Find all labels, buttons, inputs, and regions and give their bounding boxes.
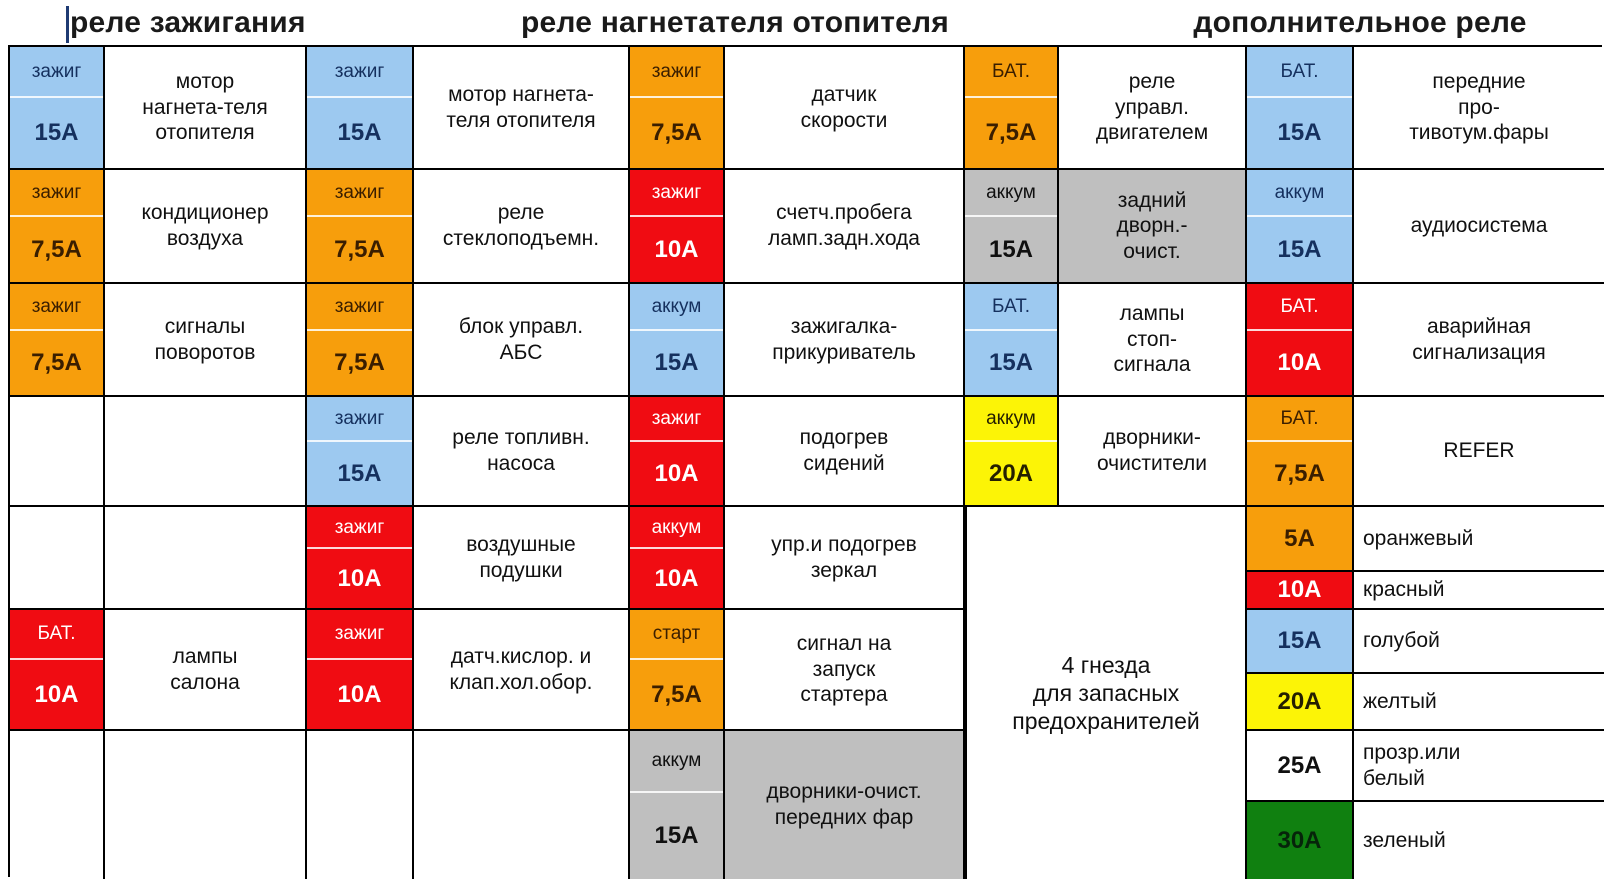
fuse-description-cell: заднийдворн.-очист. (1059, 170, 1247, 284)
fuse-cell[interactable]: зажиг10A (307, 507, 414, 610)
fuse-cell[interactable] (307, 731, 414, 879)
fuse-amp-label: 15A (630, 331, 723, 395)
fuse-cell[interactable]: зажиг10A (630, 170, 725, 284)
fuse-cell[interactable] (10, 507, 105, 610)
fuse-description-cell: релеуправл.двигателем (1059, 47, 1247, 170)
fuse-description-line: сигнализация (1412, 340, 1546, 366)
fuse-description-cell: моторнагнета-теляотопителя (105, 47, 307, 170)
fuse-grid: зажиг15Aмоторнагнета-теляотопителязажиг7… (8, 45, 1602, 877)
fuse-amp-label: 10A (307, 660, 412, 729)
legend-color-name-cell: оранжевый (1354, 507, 1604, 572)
fuse-description-line: насоса (487, 451, 555, 477)
legend-amp-cell: 15A (1247, 610, 1354, 674)
fuse-description-line: очист. (1123, 239, 1181, 265)
fuse-source-label: зажиг (630, 170, 723, 217)
legend-amp-label: 10A (1277, 575, 1321, 604)
legend-amp-label: 15A (1277, 626, 1321, 655)
fuse-description-line: лампы (1120, 301, 1185, 327)
fuse-amp-label: 7,5A (10, 331, 103, 395)
legend-color-name-line: зеленый (1363, 828, 1604, 854)
fuse-description-line: передних фар (775, 805, 914, 831)
fuse-description-line: мотор нагнета- (448, 82, 594, 108)
fuse-cell[interactable]: зажиг7,5A (307, 170, 414, 284)
fuse-cell[interactable]: БАТ.15A (965, 284, 1059, 397)
fuse-cell[interactable]: зажиг10A (307, 610, 414, 731)
fuse-source-label: зажиг (307, 170, 412, 217)
header-ignition-relay: реле зажигания (70, 0, 410, 45)
fuse-cell[interactable]: зажиг10A (630, 397, 725, 507)
fuse-source-label: зажиг (10, 170, 103, 217)
fuse-description-line: аварийная (1427, 314, 1531, 340)
fuse-description-line: тивотум.фары (1409, 120, 1549, 146)
fuse-source-label: зажиг (630, 397, 723, 442)
fuse-description-cell: сигналыповоротов (105, 284, 307, 397)
fuse-source-label: БАТ. (1247, 284, 1352, 331)
fuse-cell[interactable]: аккум15A (965, 170, 1059, 284)
fuse-description-line: сигналы (165, 314, 246, 340)
fuse-description-line: реле (498, 200, 545, 226)
fuse-description-line: мотор (176, 69, 234, 95)
fuse-description-line: датчик (812, 82, 877, 108)
fuse-amp-label: 7,5A (10, 217, 103, 282)
fuse-amp-label: 10A (630, 549, 723, 608)
spare-fuse-slots-cell: 4 гнездадля запасныхпредохранителей (965, 507, 1247, 879)
fuse-description-cell (414, 731, 630, 879)
legend-color-name-line: красный (1363, 577, 1604, 603)
fuse-amp-label: 10A (630, 442, 723, 505)
fuse-description-cell (105, 507, 307, 610)
fuse-description-line: поворотов (155, 340, 256, 366)
fuse-source-label: БАТ. (1247, 47, 1352, 98)
fuse-amp-label: 15A (630, 793, 723, 879)
fuse-description-line: АБС (500, 340, 543, 366)
fuse-description-line: счетч.пробега (776, 200, 912, 226)
fuse-description-cell: счетч.пробегаламп.задн.хода (725, 170, 965, 284)
legend-amp-label: 25A (1277, 751, 1321, 780)
fuse-description-line: задний (1118, 188, 1187, 214)
fuse-description-line: клап.хол.обор. (449, 670, 592, 696)
legend-color-name-line: голубой (1363, 628, 1604, 654)
fuse-source-label: БАТ. (965, 284, 1057, 331)
fuse-amp-label: 15A (965, 331, 1057, 395)
fuse-description-line: стартера (800, 682, 887, 708)
legend-amp-cell: 30A (1247, 802, 1354, 879)
fuse-amp-label: 15A (307, 442, 412, 505)
fuse-cell[interactable]: аккум15A (630, 731, 725, 879)
fuse-amp-label: 10A (10, 660, 103, 729)
fuse-cell[interactable]: БАТ.15A (1247, 47, 1354, 170)
fuse-source-label: зажиг (307, 610, 412, 660)
fuse-amp-label: 15A (1247, 217, 1352, 282)
legend-amp-cell: 25A (1247, 731, 1354, 802)
fuse-description-cell: блок управл.АБС (414, 284, 630, 397)
legend-amp-cell: 20A (1247, 674, 1354, 731)
fuse-source-label: БАТ. (1247, 397, 1352, 442)
fuse-description-line: подогрев (800, 425, 889, 451)
fuse-description-line: лампы (173, 644, 238, 670)
legend-color-name-cell: зеленый (1354, 802, 1604, 879)
fuse-box-chart: реле зажигания реле нагнетателя отопител… (0, 0, 1610, 884)
spare-slots-line: предохранителей (1012, 707, 1199, 735)
fuse-description-line: воздушные (466, 532, 576, 558)
fuse-description-cell (105, 731, 307, 879)
fuse-cell[interactable]: зажиг15A (307, 47, 414, 170)
fuse-description-line: запуск (813, 657, 876, 683)
fuse-cell[interactable]: БАТ.10A (1247, 284, 1354, 397)
fuse-description-cell: передниепро-тивотум.фары (1354, 47, 1604, 170)
fuse-description-line: блок управл. (459, 314, 583, 340)
fuse-description-line: скорости (801, 108, 888, 134)
fuse-description-cell: реле топливн.насоса (414, 397, 630, 507)
fuse-description-line: двигателем (1096, 120, 1208, 146)
fuse-description-line: теля отопителя (446, 108, 595, 134)
fuse-amp-label: 20A (965, 442, 1057, 505)
fuse-cell[interactable]: зажиг7,5A (10, 170, 105, 284)
fuse-source-label: аккум (630, 284, 723, 331)
fuse-description-line: аудиосистема (1411, 213, 1548, 239)
fuse-cell[interactable]: зажиг7,5A (630, 47, 725, 170)
fuse-amp-label: 15A (1247, 98, 1352, 168)
legend-color-name-cell: желтый (1354, 674, 1604, 731)
fuse-amp-label: 7,5A (630, 98, 723, 168)
fuse-description-line: подушки (479, 558, 562, 584)
legend-amp-label: 20A (1277, 687, 1321, 716)
fuse-description-line: управл. (1115, 95, 1189, 121)
fuse-description-cell: кондиционервоздуха (105, 170, 307, 284)
fuse-amp-label: 7,5A (307, 331, 412, 395)
fuse-source-label: зажиг (307, 284, 412, 331)
legend-amp-label: 30A (1277, 826, 1321, 855)
fuse-description-cell (105, 397, 307, 507)
fuse-source-label: зажиг (307, 47, 412, 98)
fuse-cell[interactable]: аккум10A (630, 507, 725, 610)
spare-slots-line: для запасных (1033, 679, 1180, 707)
legend-color-name-line: прозр.или (1363, 740, 1604, 766)
fuse-source-label: аккум (630, 507, 723, 549)
fuse-description-line: очистители (1097, 451, 1207, 477)
text-cursor-icon (66, 6, 69, 43)
fuse-description-line: сидений (803, 451, 884, 477)
fuse-description-cell: датч.кислор. иклап.хол.обор. (414, 610, 630, 731)
fuse-description-cell: упр.и подогревзеркал (725, 507, 965, 610)
fuse-source-label: аккум (965, 170, 1057, 217)
fuse-description-line: стоп- (1127, 327, 1177, 353)
fuse-description-cell: дворники-очистители (1059, 397, 1247, 507)
fuse-description-line: зеркал (811, 558, 877, 584)
fuse-source-label: зажиг (10, 47, 103, 98)
legend-color-name-line: белый (1363, 766, 1604, 792)
spare-slots-line: 4 гнезда (1062, 651, 1151, 679)
fuse-description-line: воздуха (167, 226, 243, 252)
fuse-description-cell: аудиосистема (1354, 170, 1604, 284)
fuse-description-line: сигнала (1113, 352, 1190, 378)
fuse-source-label: аккум (965, 397, 1057, 442)
legend-amp-cell: 5A (1247, 507, 1354, 572)
fuse-amp-label: 10A (630, 217, 723, 282)
fuse-amp-label: 10A (1247, 331, 1352, 395)
fuse-cell[interactable]: БАТ.10A (10, 610, 105, 731)
legend-color-name-line: желтый (1363, 689, 1604, 715)
legend-color-name-cell: прозр.илибелый (1354, 731, 1604, 802)
header-additional-relay: дополнительное реле (1110, 0, 1610, 45)
legend-color-name-cell: голубой (1354, 610, 1604, 674)
fuse-description-line: про- (1458, 95, 1500, 121)
fuse-description-line: отопителя (155, 120, 254, 146)
fuse-source-label: аккум (630, 731, 723, 793)
legend-amp-cell: 10A (1247, 572, 1354, 610)
fuse-description-cell: мотор нагнета-теля отопителя (414, 47, 630, 170)
fuse-source-label: зажиг (307, 397, 412, 442)
fuse-description-line: реле (1129, 69, 1176, 95)
fuse-source-label: зажиг (307, 507, 412, 549)
fuse-cell[interactable]: БАТ.7,5A (1247, 397, 1354, 507)
fuse-description-line: прикуриватель (772, 340, 916, 366)
fuse-description-cell: воздушныеподушки (414, 507, 630, 610)
fuse-cell[interactable]: аккум20A (965, 397, 1059, 507)
fuse-description-cell: сигнал назапускстартера (725, 610, 965, 731)
fuse-description-line: сигнал на (797, 631, 892, 657)
fuse-source-label: БАТ. (10, 610, 103, 660)
fuse-description-line: стеклоподъемн. (443, 226, 599, 252)
fuse-description-line: зажигалка- (791, 314, 898, 340)
fuse-description-line: датч.кислор. и (451, 644, 592, 670)
fuse-description-cell: лампыстоп-сигнала (1059, 284, 1247, 397)
fuse-source-label: зажиг (10, 284, 103, 331)
header-band: реле зажигания реле нагнетателя отопител… (0, 0, 1610, 45)
fuse-cell[interactable]: аккум15A (630, 284, 725, 397)
fuse-cell[interactable]: аккум15A (1247, 170, 1354, 284)
fuse-description-cell: релестеклоподъемн. (414, 170, 630, 284)
fuse-description-cell: аварийнаясигнализация (1354, 284, 1604, 397)
legend-amp-label: 5A (1284, 524, 1315, 553)
fuse-amp-label: 15A (10, 98, 103, 168)
fuse-amp-label: 10A (307, 549, 412, 608)
fuse-description-cell: лампысалона (105, 610, 307, 731)
fuse-cell[interactable]: БАТ.7,5A (965, 47, 1059, 170)
fuse-cell[interactable] (10, 397, 105, 507)
fuse-description-cell: подогревсидений (725, 397, 965, 507)
fuse-description-cell: зажигалка-прикуриватель (725, 284, 965, 397)
fuse-description-line: передние (1432, 69, 1525, 95)
fuse-amp-label: 7,5A (307, 217, 412, 282)
fuse-amp-label: 15A (965, 217, 1057, 282)
fuse-cell[interactable]: зажиг15A (10, 47, 105, 170)
fuse-description-line: кондиционер (141, 200, 268, 226)
fuse-description-line: упр.и подогрев (771, 532, 917, 558)
fuse-description-cell: датчикскорости (725, 47, 965, 170)
fuse-description-line: реле топливн. (452, 425, 589, 451)
fuse-cell[interactable]: старт7,5A (630, 610, 725, 731)
header-heater-blower-relay: реле нагнетателя отопителя (470, 0, 1000, 45)
fuse-description-line: салона (170, 670, 240, 696)
fuse-amp-label: 7,5A (630, 660, 723, 729)
fuse-description-cell: REFER (1354, 397, 1604, 507)
fuse-description-line: дворники- (1103, 425, 1201, 451)
fuse-description-line: ламп.задн.хода (768, 226, 920, 252)
legend-color-name-cell: красный (1354, 572, 1604, 610)
fuse-cell[interactable]: зажиг7,5A (307, 284, 414, 397)
fuse-amp-label: 7,5A (1247, 442, 1352, 505)
fuse-cell[interactable] (10, 731, 105, 879)
fuse-source-label: старт (630, 610, 723, 660)
fuse-source-label: зажиг (630, 47, 723, 98)
fuse-cell[interactable]: зажиг15A (307, 397, 414, 507)
fuse-cell[interactable]: зажиг7,5A (10, 284, 105, 397)
fuse-description-line: дворн.- (1117, 213, 1188, 239)
fuse-description-line: нагнета-теля (142, 95, 268, 121)
legend-color-name-line: оранжевый (1363, 526, 1604, 552)
fuse-source-label: БАТ. (965, 47, 1057, 98)
fuse-amp-label: 15A (307, 98, 412, 168)
fuse-description-cell: дворники-очист.передних фар (725, 731, 965, 879)
fuse-description-line: REFER (1443, 438, 1514, 464)
fuse-description-line: дворники-очист. (766, 779, 921, 805)
fuse-amp-label: 7,5A (965, 98, 1057, 168)
fuse-source-label: аккум (1247, 170, 1352, 217)
